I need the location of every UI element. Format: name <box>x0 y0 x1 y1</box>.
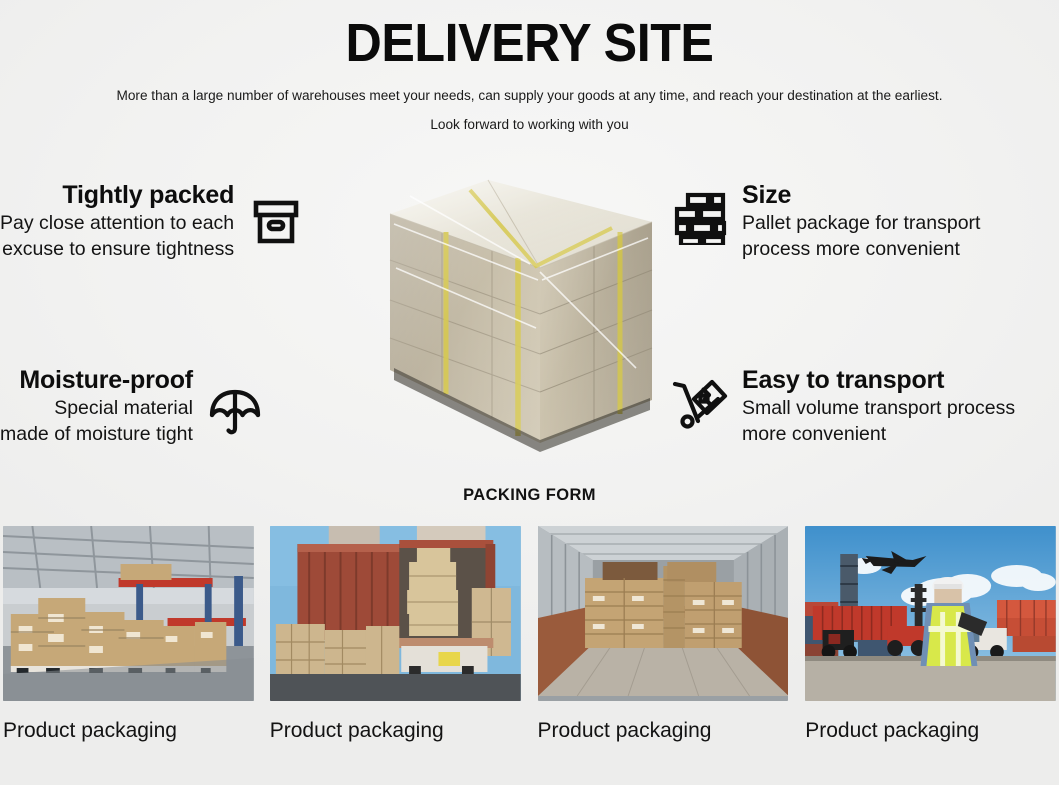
warehouse-photo[interactable] <box>3 526 254 701</box>
feature-moisture-proof: Moisture-proof Special material made of … <box>0 366 370 446</box>
packing-form-gallery: Product packaging <box>0 526 1059 741</box>
gallery-caption: Product packaging <box>3 720 254 741</box>
feature-description-line-1: Pay close attention to each <box>0 212 234 236</box>
gallery-caption: Product packaging <box>538 720 789 741</box>
pallet-illustration <box>380 168 660 456</box>
subtitle-line-2: Look forward to working with you <box>21 117 1038 133</box>
feature-description-line-2: more convenient <box>742 423 886 447</box>
port-logistics-photo[interactable] <box>805 526 1056 701</box>
feature-text-block: Moisture-proof Special material made of … <box>0 366 193 446</box>
container-loading-photo[interactable] <box>270 526 521 701</box>
feature-description-line-1: Small volume transport process <box>742 397 1015 421</box>
gallery-item[interactable]: Product packaging <box>538 526 789 741</box>
umbrella-icon <box>207 384 263 440</box>
brick-wall-icon <box>672 189 728 245</box>
gallery-item[interactable]: Product packaging <box>270 526 521 741</box>
container-interior-photo[interactable] <box>538 526 789 701</box>
gallery-item[interactable]: Product packaging <box>805 526 1056 741</box>
feature-tightly-packed: Tightly packed Pay close attention to ea… <box>0 181 370 261</box>
feature-size: Size Pallet package for transport proces… <box>672 181 1059 261</box>
pallet-photo <box>380 168 660 456</box>
page-header: DELIVERY SITE More than a large number o… <box>0 0 1059 133</box>
gallery-item[interactable]: Product packaging <box>3 526 254 741</box>
feature-text-block: Tightly packed Pay close attention to ea… <box>0 181 234 261</box>
feature-description-line-2: made of moisture tight <box>0 423 193 447</box>
feature-text-block: Easy to transport Small volume transport… <box>742 366 1015 446</box>
feature-heading: Easy to transport <box>742 366 944 395</box>
storage-box-icon <box>248 193 304 249</box>
subtitle-line-1: More than a large number of warehouses m… <box>21 88 1038 104</box>
feature-heading: Size <box>742 181 791 210</box>
page-title: DELIVERY SITE <box>37 16 1022 71</box>
gallery-caption: Product packaging <box>270 720 521 741</box>
hand-truck-icon <box>672 376 728 432</box>
feature-description-line-1: Special material <box>54 397 193 421</box>
feature-description-line-2: process more convenient <box>742 238 960 262</box>
feature-text-block: Size Pallet package for transport proces… <box>742 181 980 261</box>
feature-description-line-1: Pallet package for transport <box>742 212 980 236</box>
packing-form-heading: PACKING FORM <box>0 486 1059 505</box>
feature-heading: Moisture-proof <box>19 366 193 395</box>
gallery-caption: Product packaging <box>805 720 1056 741</box>
feature-heading: Tightly packed <box>62 181 234 210</box>
feature-easy-to-transport: Easy to transport Small volume transport… <box>672 366 1059 446</box>
feature-description-line-2: excuse to ensure tightness <box>2 238 234 262</box>
